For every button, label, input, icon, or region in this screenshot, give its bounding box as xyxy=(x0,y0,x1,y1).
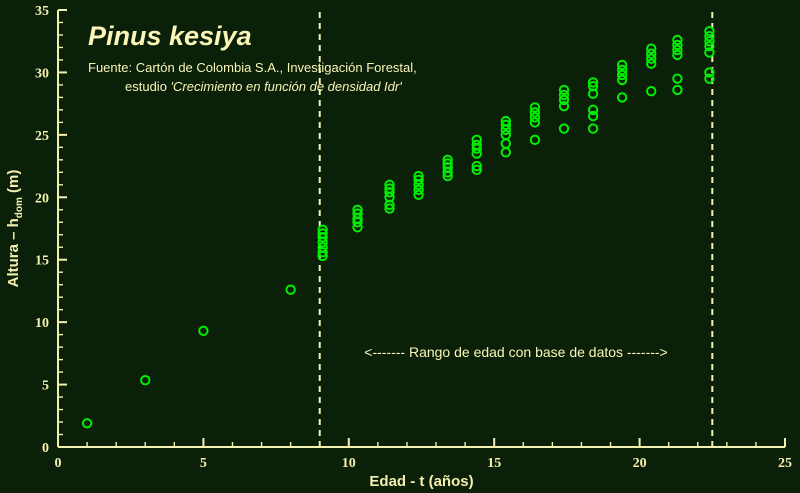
y-axis-title-subscript: dom xyxy=(14,197,25,218)
chart-container: 051015202505101520253035Edad - t (años)A… xyxy=(0,0,800,493)
data-point-marker xyxy=(286,285,294,293)
data-point-marker xyxy=(83,419,91,427)
data-point-marker xyxy=(560,124,568,132)
data-point-marker xyxy=(502,139,510,147)
data-point-marker xyxy=(199,327,207,335)
data-point-marker xyxy=(531,136,539,144)
y-tick-label: 0 xyxy=(42,441,49,456)
x-tick-label: 20 xyxy=(633,456,647,471)
y-axis-title: Altura – hdom (m) xyxy=(5,170,25,288)
source-line-1: Fuente: Cartón de Colombia S.A., Investi… xyxy=(88,60,417,75)
y-tick-label: 25 xyxy=(35,129,49,144)
data-point-marker xyxy=(502,148,510,156)
y-tick-label: 30 xyxy=(35,66,49,81)
data-point-marker xyxy=(673,86,681,94)
scatter-plot-svg: 051015202505101520253035Edad - t (años)A… xyxy=(0,0,800,493)
data-point-marker xyxy=(141,376,149,384)
data-point-marker xyxy=(673,74,681,82)
y-axis-title-unit: (m) xyxy=(5,170,22,198)
x-tick-label: 15 xyxy=(487,456,501,471)
range-boundary-lines xyxy=(320,10,713,447)
data-point-marker xyxy=(618,93,626,101)
x-tick-label: 25 xyxy=(778,456,792,471)
y-axis-title-main: Altura – h xyxy=(5,218,22,287)
y-tick-label: 10 xyxy=(35,316,49,331)
y-tick-label: 35 xyxy=(35,4,49,19)
y-tick-label: 15 xyxy=(35,254,49,269)
range-annotation-label: <------- Rango de edad con base de datos… xyxy=(364,344,667,360)
x-tick-label: 0 xyxy=(55,456,62,471)
chart-title: Pinus kesiya xyxy=(88,21,252,51)
source-line-2: estudio 'Crecimiento en función de densi… xyxy=(125,79,402,94)
data-point-marker xyxy=(589,124,597,132)
y-tick-label: 20 xyxy=(35,191,49,206)
data-point-marker xyxy=(647,87,655,95)
y-tick-label: 5 xyxy=(42,379,49,394)
source-study-prefix: estudio xyxy=(125,79,171,94)
x-axis-title: Edad - t (años) xyxy=(369,473,473,490)
source-study-name: 'Crecimiento en función de densidad Idr' xyxy=(171,79,403,94)
chart-annotations: Pinus kesiyaFuente: Cartón de Colombia S… xyxy=(88,21,668,360)
x-tick-label: 5 xyxy=(200,456,207,471)
x-tick-label: 10 xyxy=(342,456,356,471)
